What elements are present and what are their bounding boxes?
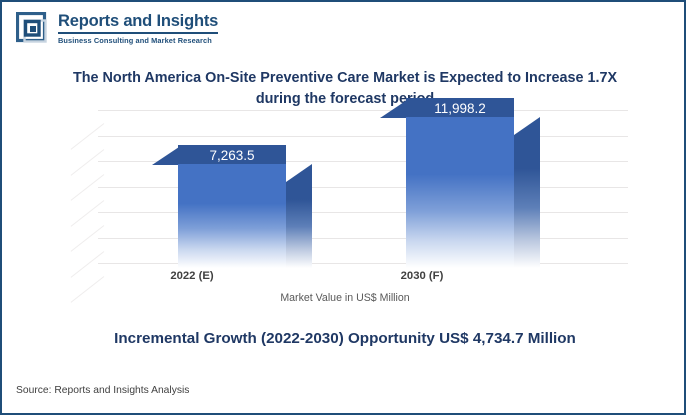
chart-title-line-1: The North America On-Site Preventive Car…: [73, 70, 617, 86]
category-label-2022: 2022 (E): [132, 270, 252, 282]
bar-value-label-2030: 11,998.2: [406, 98, 514, 118]
brand-logo: Reports and Insights Business Consulting…: [16, 12, 218, 46]
brand-tagline: Business Consulting and Market Research: [58, 36, 218, 45]
bar-side-face: [286, 164, 312, 268]
bar-front-face: [178, 164, 286, 268]
plot-area: 7,263.5 11,998.2: [62, 110, 628, 265]
x-axis-label: Market Value in US$ Million: [2, 292, 686, 304]
bar-value-label-2022: 7,263.5: [178, 145, 286, 165]
bar-side-face: [514, 117, 540, 268]
chart-title: The North America On-Site Preventive Car…: [52, 68, 638, 110]
nested-squares-logo-icon: [16, 12, 50, 46]
chart-page: Reports and Insights Business Consulting…: [0, 0, 686, 415]
brand-name: Reports and Insights: [58, 13, 218, 30]
brand-divider: [58, 32, 218, 34]
category-label-2030: 2030 (F): [362, 270, 482, 282]
bar-front-face: [406, 117, 514, 268]
source-note: Source: Reports and Insights Analysis: [16, 385, 189, 396]
gridline: [98, 110, 628, 111]
brand-logo-text: Reports and Insights Business Consulting…: [58, 13, 218, 45]
gridline: [98, 136, 628, 137]
incremental-growth-callout: Incremental Growth (2022-2030) Opportuni…: [2, 330, 686, 347]
bar-2030[interactable]: 11,998.2: [406, 117, 514, 268]
bar-2022[interactable]: 7,263.5: [178, 164, 286, 268]
